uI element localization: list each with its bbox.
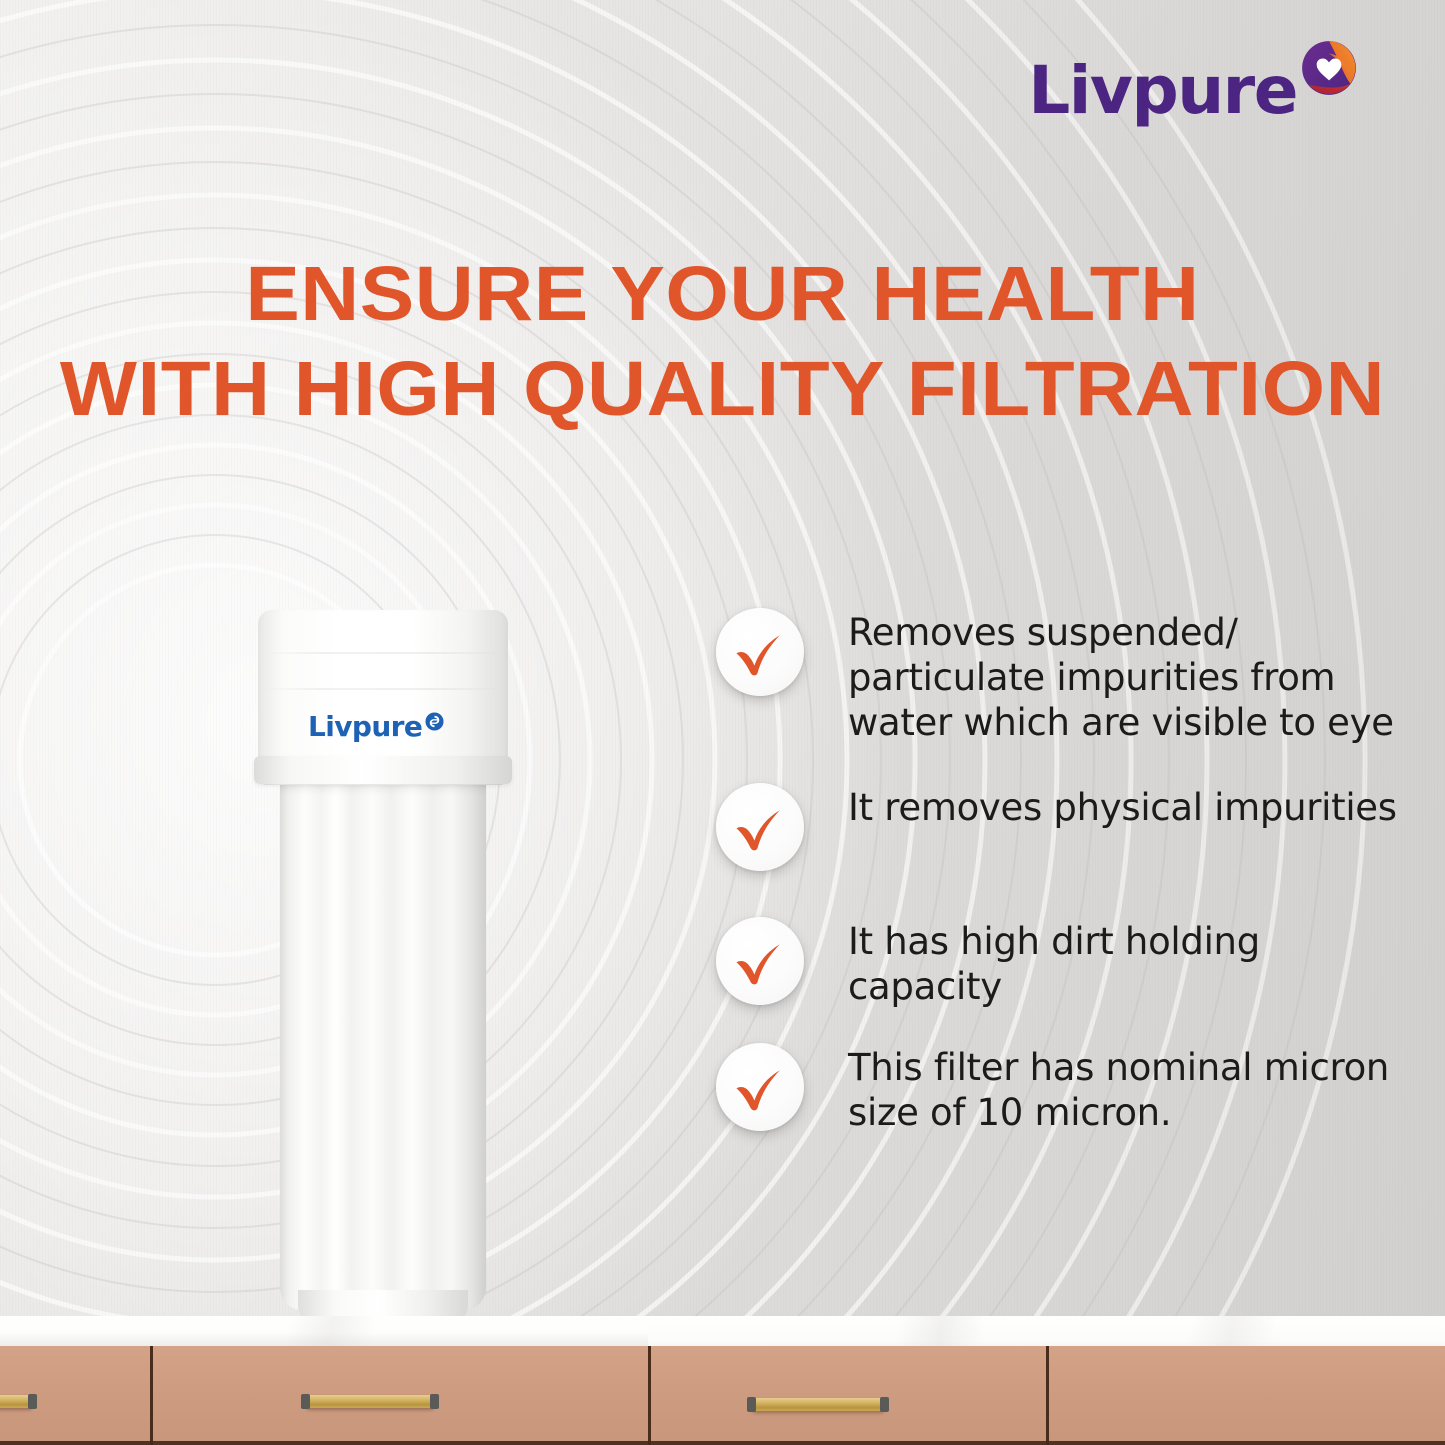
- headline-line-2: WITH HIGH QUALITY FILTRATION: [0, 342, 1445, 437]
- cap-rib-upper: [262, 652, 504, 654]
- headline-line-1: ENSURE YOUR HEALTH: [245, 251, 1199, 337]
- list-item-label: This filter has nominal micron size of 1…: [848, 1039, 1416, 1135]
- product-brand-label: Livpure: [308, 712, 444, 741]
- cabinet-panel: [648, 1346, 1046, 1445]
- cabinet-handle[interactable]: [0, 1395, 32, 1408]
- list-item-label: It removes physical impurities: [848, 779, 1397, 830]
- heart-swirl-logo-icon: [1301, 40, 1357, 96]
- brand-wordmark: Livpure: [1028, 58, 1297, 124]
- kitchen-cabinets: [0, 1346, 1445, 1445]
- cabinet-horizontal-seam: [0, 1441, 1445, 1445]
- filter-housing-body: [280, 780, 486, 1310]
- list-item: It removes physical impurities: [716, 779, 1416, 871]
- list-item: Removes suspended/ particulate impuritie…: [716, 604, 1416, 745]
- cabinet-handle[interactable]: [306, 1395, 434, 1408]
- page-title: ENSURE YOUR HEALTH WITH HIGH QUALITY FIL…: [0, 247, 1445, 437]
- feature-list: Removes suspended/ particulate impuritie…: [716, 604, 1416, 1165]
- cabinet-panel: [1046, 1346, 1445, 1445]
- list-item-label: Removes suspended/ particulate impuritie…: [848, 604, 1416, 745]
- check-circle-icon: [716, 917, 804, 1005]
- list-item: This filter has nominal micron size of 1…: [716, 1039, 1416, 1135]
- check-icon: [729, 621, 791, 683]
- brand-logo: Livpure: [1028, 40, 1357, 124]
- check-circle-icon: [716, 783, 804, 871]
- check-icon: [729, 1056, 791, 1118]
- cap-rib-lower: [262, 688, 504, 690]
- product-swirl-icon: [425, 712, 444, 731]
- check-circle-icon: [716, 608, 804, 696]
- list-item: It has high dirt holding capacity: [716, 913, 1416, 1009]
- check-icon: [729, 796, 791, 858]
- check-circle-icon: [716, 1043, 804, 1131]
- product-image: Livpure: [258, 604, 508, 1316]
- product-wordmark: Livpure: [308, 713, 422, 741]
- product-feature-poster: Livpure ENSURE YOUR HEALTH WITH HIGH: [0, 0, 1445, 1445]
- cabinet-handle[interactable]: [752, 1398, 884, 1411]
- cap-lip: [254, 756, 512, 784]
- list-item-label: It has high dirt holding capacity: [848, 913, 1416, 1009]
- check-icon: [729, 930, 791, 992]
